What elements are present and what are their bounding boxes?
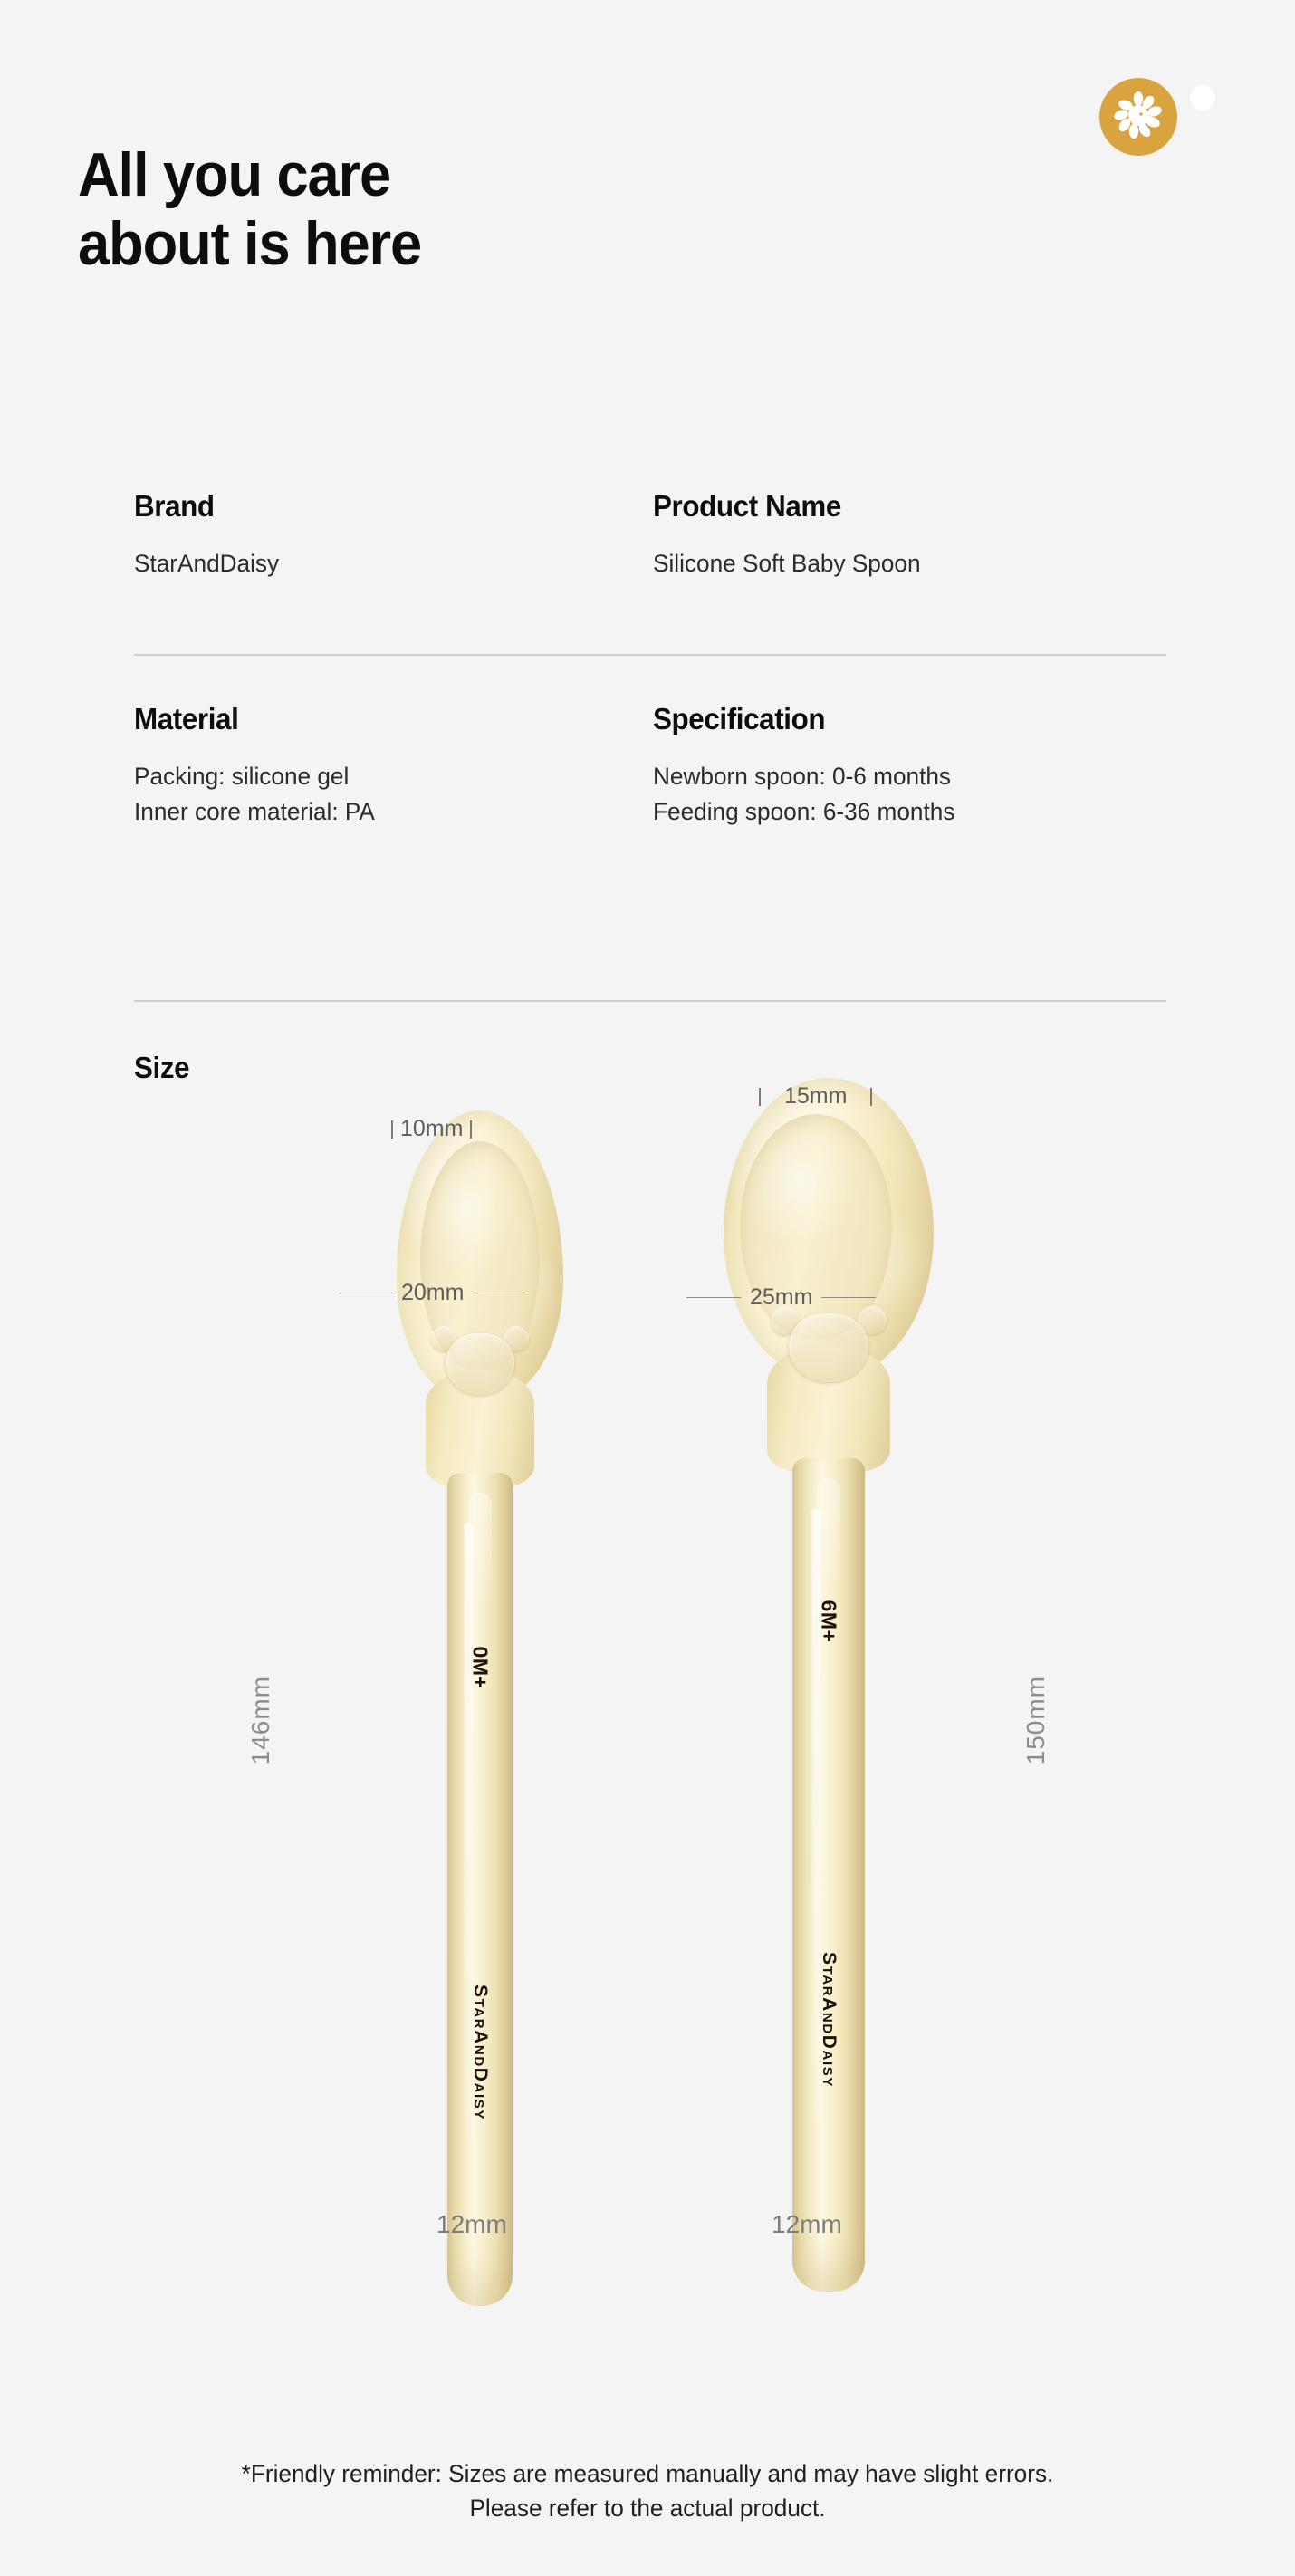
divider-2 xyxy=(134,1000,1166,1002)
spec-table-row-1: Brand StarAndDaisy Product Name Silicone… xyxy=(134,489,1166,582)
feeding-brand-marking: StarAndDaisy xyxy=(818,1952,839,2088)
rule-left-icon xyxy=(686,1297,741,1298)
newborn-bowl-width-annotation: 20mm xyxy=(340,1280,525,1306)
spec-value-product-name: Silicone Soft Baby Spoon xyxy=(653,546,1151,582)
newborn-total-length: 146mm xyxy=(246,1676,275,1764)
rule-right-icon xyxy=(821,1297,876,1298)
tick-right-icon xyxy=(470,1120,472,1139)
bear-face-emboss xyxy=(774,1304,883,1406)
feeding-spoon-handle: 6M+ StarAndDaisy xyxy=(792,1458,865,2292)
spec-label-product-name: Product Name xyxy=(653,489,1141,524)
spec-cell-brand: Brand StarAndDaisy xyxy=(134,489,650,582)
newborn-handle-width: 12mm xyxy=(436,2210,507,2239)
spec-label-brand: Brand xyxy=(134,489,624,524)
brand-logo xyxy=(1099,65,1208,147)
spec-value-material: Packing: silicone gel Inner core materia… xyxy=(134,759,635,829)
feeding-total-length: 150mm xyxy=(1022,1676,1050,1764)
feeding-bowl-width-annotation: 25mm xyxy=(686,1284,876,1311)
spec-cell-specification: Specification Newborn spoon: 0-6 months … xyxy=(650,702,1166,829)
spec-label-material: Material xyxy=(134,702,624,736)
newborn-tip-width-value: 10mm xyxy=(400,1116,463,1142)
rule-right-icon xyxy=(473,1293,525,1293)
headline-line-1: All you care xyxy=(78,140,421,209)
tick-right-icon xyxy=(870,1088,872,1106)
newborn-spoon-handle: 0M+ StarAndDaisy xyxy=(447,1473,513,2306)
feeding-tip-width-value: 15mm xyxy=(768,1083,863,1110)
tick-left-icon xyxy=(391,1120,393,1139)
spec-label-specification: Specification xyxy=(653,702,1141,736)
feeding-spoon-illustration: 6M+ StarAndDaisy xyxy=(715,1078,942,2364)
spec-value-brand: StarAndDaisy xyxy=(134,546,635,582)
feeding-bowl-width-value: 25mm xyxy=(750,1284,812,1311)
divider-1 xyxy=(134,654,1166,656)
size-diagram: 0M+ StarAndDaisy 10mm 20mm 146mm 12mm xyxy=(0,1078,1295,2364)
feeding-age-marking: 6M+ xyxy=(817,1600,841,1643)
rule-left-icon xyxy=(340,1293,392,1293)
headline-line-2: about is here xyxy=(78,209,421,278)
disclaimer-line-1: *Friendly reminder: Sizes are measured m… xyxy=(19,2456,1275,2491)
spec-cell-material: Material Packing: silicone gel Inner cor… xyxy=(134,702,650,829)
daisy-logo-icon xyxy=(1099,78,1177,156)
bear-head xyxy=(446,1333,514,1395)
page-title: All you care about is here xyxy=(78,140,421,278)
logo-accent-dot xyxy=(1190,85,1215,111)
newborn-age-marking: 0M+ xyxy=(468,1647,493,1689)
bear-face-emboss xyxy=(433,1324,527,1415)
disclaimer-line-2: Please refer to the actual product. xyxy=(19,2491,1275,2525)
tick-left-icon xyxy=(759,1088,761,1106)
spec-table-row-2: Material Packing: silicone gel Inner cor… xyxy=(134,702,1166,829)
spec-cell-product-name: Product Name Silicone Soft Baby Spoon xyxy=(650,489,1166,582)
newborn-bowl-width-value: 20mm xyxy=(401,1280,464,1306)
disclaimer: *Friendly reminder: Sizes are measured m… xyxy=(19,2456,1275,2526)
product-infographic: All you care about is here Brand StarAnd… xyxy=(0,0,1295,2576)
bear-head xyxy=(789,1313,868,1382)
newborn-tip-width-annotation: 10mm xyxy=(391,1116,472,1142)
newborn-brand-marking: StarAndDaisy xyxy=(469,1985,491,2120)
spec-value-specification: Newborn spoon: 0-6 months Feeding spoon:… xyxy=(653,759,1151,829)
feeding-tip-width-annotation: 15mm xyxy=(759,1083,872,1110)
feeding-handle-width: 12mm xyxy=(772,2210,842,2239)
